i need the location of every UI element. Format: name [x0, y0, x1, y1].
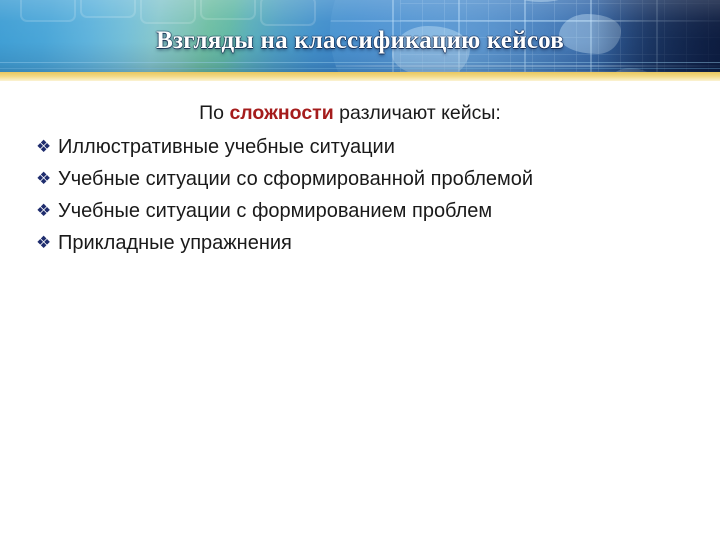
list-item-label: Учебные ситуации со сформированной пробл… — [58, 164, 578, 194]
slide-canvas: Взгляды на классификацию кейсов По сложн… — [0, 0, 720, 540]
list-item: ❖ Иллюстративные учебные ситуации — [36, 132, 696, 162]
diamond-bullet-icon: ❖ — [36, 196, 58, 226]
lead-sentence: По сложности различают кейсы: — [0, 101, 700, 126]
list-item: ❖ Учебные ситуации со сформированной про… — [36, 164, 696, 194]
slide-body: По сложности различают кейсы: ❖ Иллюстра… — [0, 81, 720, 540]
list-item: ❖ Прикладные упражнения — [36, 228, 696, 258]
list-item-label: Учебные ситуации с формированием проблем — [58, 196, 696, 226]
page-title: Взгляды на классификацию кейсов — [0, 26, 720, 56]
lead-before: По — [199, 102, 229, 124]
lead-highlight: сложности — [229, 102, 333, 124]
gold-separator-bar — [0, 72, 720, 81]
banner-hairline-1 — [0, 62, 720, 63]
list-item-label: Прикладные упражнения — [58, 228, 696, 258]
list-item-label: Иллюстративные учебные ситуации — [58, 132, 696, 162]
bullet-list: ❖ Иллюстративные учебные ситуации ❖ Учеб… — [36, 132, 696, 260]
list-item: ❖ Учебные ситуации с формированием пробл… — [36, 196, 696, 226]
diamond-bullet-icon: ❖ — [36, 228, 58, 258]
diamond-bullet-icon: ❖ — [36, 132, 58, 162]
lead-after: различают кейсы: — [334, 102, 501, 124]
diamond-bullet-icon: ❖ — [36, 164, 58, 194]
banner-hairline-2 — [0, 68, 720, 69]
